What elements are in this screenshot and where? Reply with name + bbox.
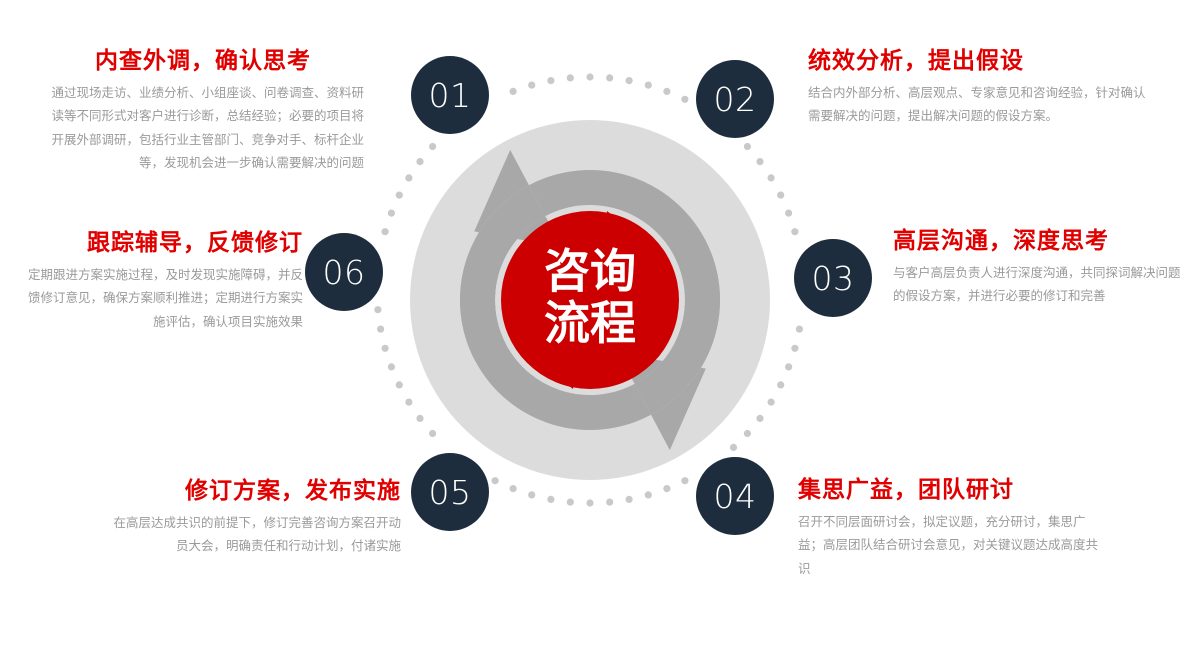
ring-dot	[405, 399, 412, 406]
step-body-04: 召开不同层面研讨会，拟定议题，充分研讨，集思广益；高层团队结合研讨会意见，对关键…	[798, 511, 1098, 580]
ring-dot	[377, 326, 384, 333]
ring-dot	[382, 345, 389, 352]
step-block-03: 高层沟通，深度思考 与客户高层负责人进行深度沟通，共同探词解决问题的假设方案，并…	[893, 228, 1183, 309]
step-block-06: 跟踪辅导，反馈修订 定期跟进方案实施过程，及时发现实施障碍，并反馈修订意见，确保…	[20, 230, 303, 334]
ring-dot	[791, 228, 798, 235]
step-title-06: 跟踪辅导，反馈修订	[20, 230, 303, 255]
ring-dot	[768, 399, 775, 406]
ring-dot	[663, 485, 670, 492]
ring-dot	[586, 499, 593, 506]
ring-dot	[645, 82, 652, 89]
ring-dot	[756, 415, 763, 422]
infographic-canvas: 咨询 流程 01 02 03 04 05 06 内查外调，确认思考 通过现场走访…	[0, 0, 1197, 655]
ring-dot	[429, 143, 436, 150]
step-badge-03[interactable]: 03	[794, 239, 872, 317]
center-label-line1: 咨询	[544, 244, 636, 298]
ring-dot	[374, 306, 381, 313]
step-title-03: 高层沟通，深度思考	[893, 228, 1183, 253]
step-title-02: 统效分析，提出假设	[808, 48, 1148, 73]
ring-dot	[681, 96, 688, 103]
step-block-04: 集思广益，团队研讨 召开不同层面研讨会，拟定议题，充分研讨，集思广益；高层团队结…	[798, 477, 1098, 581]
step-title-04: 集思广益，团队研讨	[798, 477, 1098, 502]
ring-dot	[547, 496, 554, 503]
step-badge-05[interactable]: 05	[411, 453, 489, 531]
ring-dot	[785, 210, 792, 217]
ring-dot	[606, 74, 613, 81]
step-block-02: 统效分析，提出假设 结合内外部分析、高层观点、专家意见和咨询经验，针对确认需要解…	[808, 48, 1148, 129]
ring-dot	[396, 381, 403, 388]
ring-dot	[681, 477, 688, 484]
arrow-band	[414, 124, 766, 476]
step-title-01: 内查外调，确认思考	[42, 48, 364, 73]
ring-dot	[416, 158, 423, 165]
step-badge-01[interactable]: 01	[411, 56, 489, 134]
ring-dot	[791, 345, 798, 352]
step-title-05: 修订方案，发布实施	[110, 478, 401, 503]
ring-dot	[492, 477, 499, 484]
ring-dot	[785, 363, 792, 370]
ring-dot	[405, 174, 412, 181]
ring-dot	[777, 192, 784, 199]
step-block-01: 内查外调，确认思考 通过现场走访、业绩分析、小组座谈、问卷调查、资料研读等不同形…	[42, 48, 364, 175]
ring-dot	[388, 210, 395, 217]
center-label-line2: 流程	[544, 296, 636, 350]
ring-dot	[663, 88, 670, 95]
step-badge-06[interactable]: 06	[305, 233, 383, 311]
step-badge-02[interactable]: 02	[696, 60, 774, 138]
ring-dot	[756, 158, 763, 165]
step-body-02: 结合内外部分析、高层观点、专家意见和咨询经验，针对确认需要解决的问题，提出解决问…	[808, 82, 1148, 128]
step-body-05: 在高层达成共识的前提下，修订完善咨询方案召开动员大会，明确责任和行动计划，付诸实…	[110, 512, 401, 558]
step-block-05: 修订方案，发布实施 在高层达成共识的前提下，修订完善咨询方案召开动员大会，明确责…	[110, 478, 401, 559]
red-arrow-notch	[539, 211, 641, 389]
step-body-01: 通过现场走访、业绩分析、小组座谈、问卷调查、资料研读等不同形式对客户进行诊断，总…	[42, 82, 364, 175]
ring-dot	[626, 77, 633, 84]
ring-dot	[626, 496, 633, 503]
ring-dot	[586, 73, 593, 80]
ring-dot	[509, 485, 516, 492]
ring-dot	[509, 88, 516, 95]
ring-dot	[744, 430, 751, 437]
ring-dot	[547, 77, 554, 84]
ring-dot	[388, 363, 395, 370]
ring-dot	[429, 430, 436, 437]
ring-dot	[416, 415, 423, 422]
step-body-06: 定期跟进方案实施过程，及时发现实施障碍，并反馈修订意见，确保方案顺利推进；定期进…	[20, 264, 303, 333]
ring-dot	[768, 174, 775, 181]
ring-dot	[777, 381, 784, 388]
ring-dot	[744, 143, 751, 150]
center-red-circle	[501, 211, 679, 389]
ring-dot	[796, 326, 803, 333]
circular-arrows-icon	[395, 150, 784, 450]
ring-dot	[645, 491, 652, 498]
ring-dot	[528, 491, 535, 498]
ring-dot	[528, 82, 535, 89]
ring-dot	[396, 192, 403, 199]
dotted-ring	[374, 73, 803, 506]
ring-dot	[606, 499, 613, 506]
ring-dot	[567, 499, 574, 506]
outer-gray-circle	[410, 120, 770, 480]
ring-dot	[567, 74, 574, 81]
ring-dot	[730, 444, 737, 451]
step-badge-04[interactable]: 04	[696, 457, 774, 535]
ring-dot	[382, 228, 389, 235]
step-body-03: 与客户高层负责人进行深度沟通，共同探词解决问题的假设方案，并进行必要的修订和完善	[893, 262, 1183, 308]
